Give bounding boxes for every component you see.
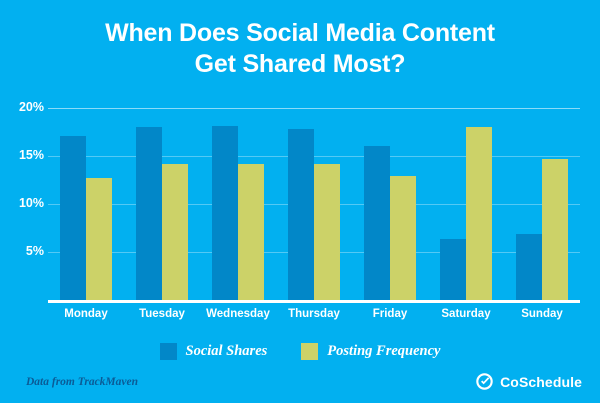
bar-posting-frequency[interactable] — [542, 159, 568, 300]
bar-posting-frequency[interactable] — [314, 164, 340, 300]
y-axis-tick-label: 10% — [0, 196, 44, 210]
legend-swatch — [160, 343, 177, 360]
legend-item-social-shares[interactable]: Social Shares — [160, 343, 268, 360]
bar-group — [48, 108, 124, 300]
chart-legend: Social SharesPosting Frequency — [0, 343, 600, 360]
bar-social-shares[interactable] — [212, 126, 238, 300]
chart-title: When Does Social Media Content Get Share… — [0, 18, 600, 80]
bar-social-shares[interactable] — [288, 129, 314, 300]
x-axis-tick-label: Sunday — [504, 308, 580, 320]
bar-groups — [48, 108, 580, 300]
legend-item-posting-frequency[interactable]: Posting Frequency — [301, 343, 440, 360]
x-axis-tick-label: Tuesday — [124, 308, 200, 320]
chart-title-line-2: Get Shared Most? — [0, 49, 600, 80]
check-circle-icon — [475, 372, 494, 391]
brand-name: CoSchedule — [500, 374, 582, 390]
bar-social-shares[interactable] — [516, 234, 542, 300]
bar-group — [428, 108, 504, 300]
bar-social-shares[interactable] — [440, 239, 466, 300]
bar-posting-frequency[interactable] — [238, 164, 264, 300]
bar-posting-frequency[interactable] — [86, 178, 112, 300]
x-axis-baseline — [48, 300, 580, 303]
chart-title-line-1: When Does Social Media Content — [0, 18, 600, 49]
y-axis-tick-label: 15% — [0, 148, 44, 162]
bar-social-shares[interactable] — [60, 136, 86, 300]
bar-group — [124, 108, 200, 300]
x-axis-tick-label: Saturday — [428, 308, 504, 320]
x-axis-tick-label: Wednesday — [200, 308, 276, 320]
x-axis-labels: MondayTuesdayWednesdayThursdayFridaySatu… — [48, 308, 580, 320]
coschedule-logo[interactable]: CoSchedule — [475, 372, 582, 391]
legend-label: Posting Frequency — [327, 343, 440, 360]
bar-social-shares[interactable] — [364, 146, 390, 300]
y-axis-tick-label: 5% — [0, 244, 44, 258]
bar-posting-frequency[interactable] — [466, 127, 492, 300]
x-axis-tick-label: Thursday — [276, 308, 352, 320]
legend-label: Social Shares — [186, 343, 268, 360]
bar-posting-frequency[interactable] — [390, 176, 416, 300]
bar-group — [352, 108, 428, 300]
data-source-note: Data from TrackMaven — [26, 376, 138, 388]
bar-social-shares[interactable] — [136, 127, 162, 300]
bar-group — [200, 108, 276, 300]
x-axis-tick-label: Monday — [48, 308, 124, 320]
legend-swatch — [301, 343, 318, 360]
y-axis-tick-label: 20% — [0, 100, 44, 114]
bar-posting-frequency[interactable] — [162, 164, 188, 300]
chart-container: When Does Social Media Content Get Share… — [0, 0, 600, 403]
x-axis-tick-label: Friday — [352, 308, 428, 320]
bar-group — [504, 108, 580, 300]
bar-group — [276, 108, 352, 300]
